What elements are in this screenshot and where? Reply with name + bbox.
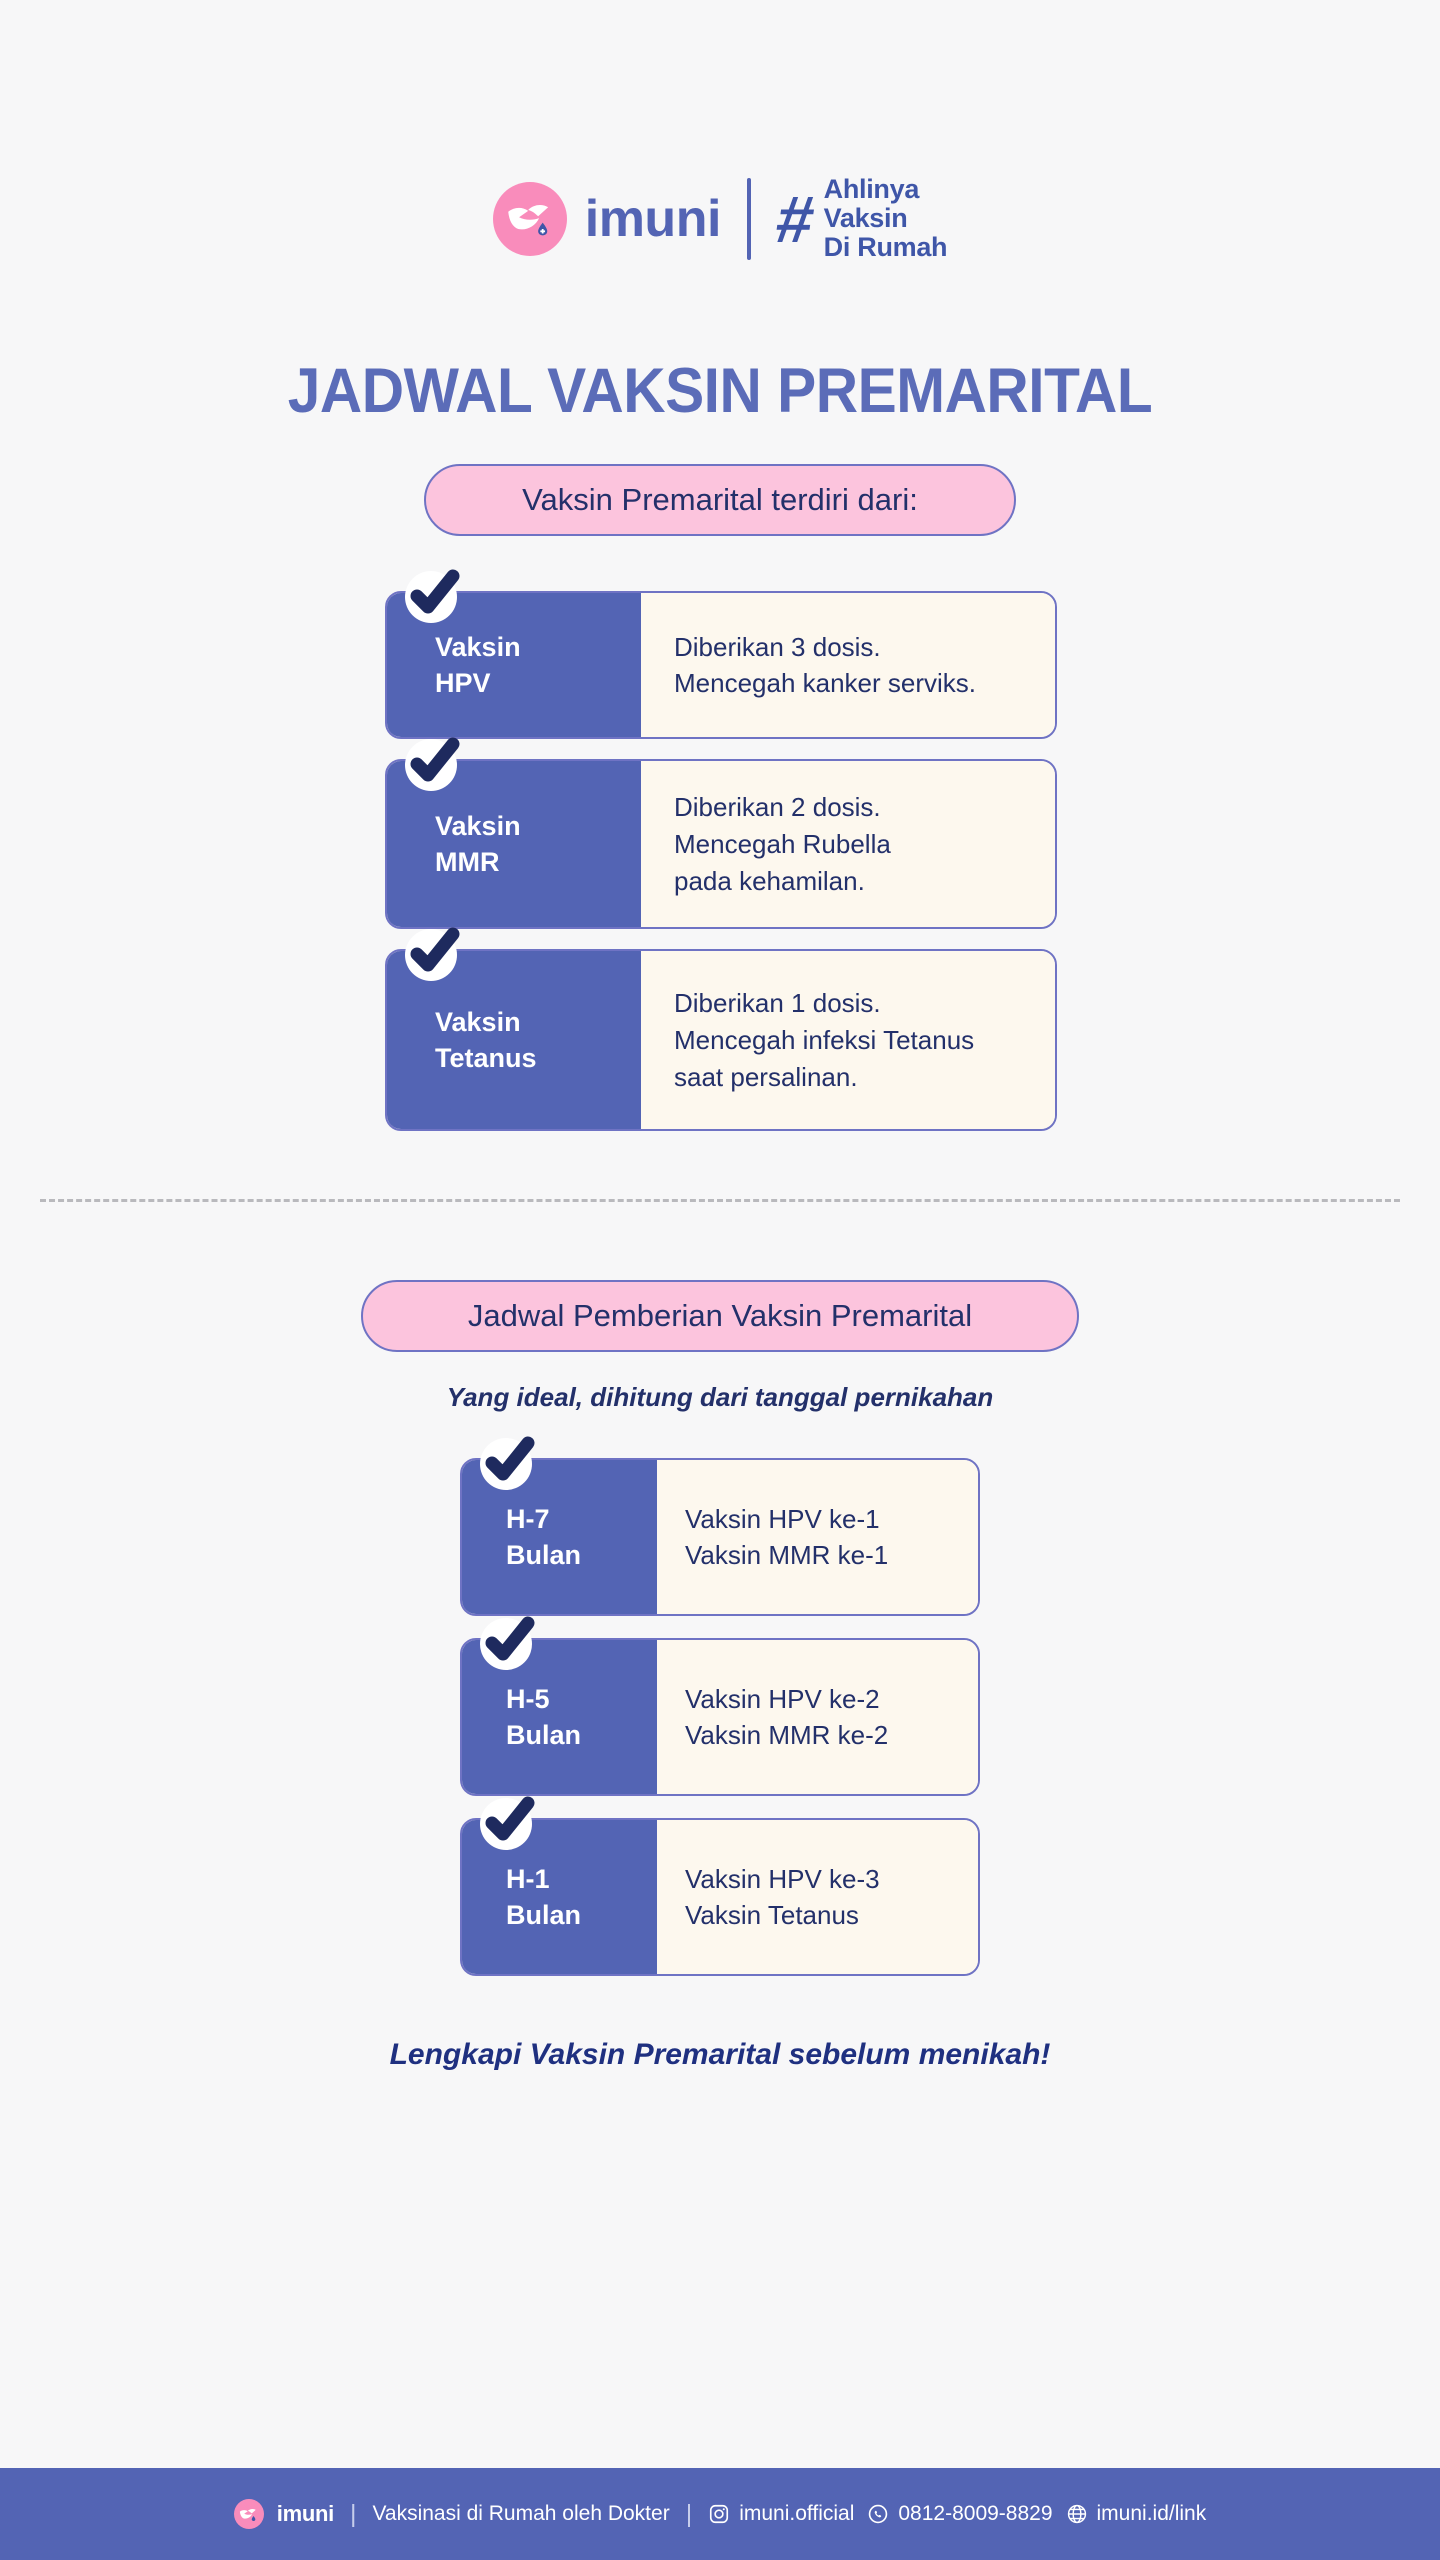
schedule-card-vaccine-line: Vaksin HPV ke-3	[685, 1861, 958, 1898]
closing-statement: Lengkapi Vaksin Premarital sebelum menik…	[0, 2038, 1440, 2072]
vaccine-card-desc-line: Mencegah kanker serviks.	[674, 665, 1031, 702]
vaccine-card-desc-line: saat persalinan.	[674, 1059, 1031, 1096]
vaccine-card[interactable]: Vaksin MMR Diberikan 2 dosis. Mencegah R…	[385, 759, 1057, 929]
vaccine-card-label-line: Tetanus	[435, 1040, 641, 1076]
bird-droplet-icon	[234, 2499, 264, 2529]
vaccine-card-label: Vaksin MMR	[387, 761, 641, 927]
footer-instagram[interactable]: imuni.official	[708, 2502, 854, 2526]
schedule-card-vaccines: Vaksin HPV ke-1 Vaksin MMR ke-1	[657, 1460, 978, 1614]
schedule-card[interactable]: H-7 Bulan Vaksin HPV ke-1 Vaksin MMR ke-…	[460, 1458, 980, 1616]
whatsapp-icon	[867, 2503, 889, 2525]
vaccine-card-label: Vaksin HPV	[387, 593, 641, 737]
schedule-card-time-line: Bulan	[506, 1537, 657, 1573]
footer-instagram-handle: imuni.official	[739, 2502, 854, 2526]
vaccine-card-desc-line: pada kehamilan.	[674, 863, 1031, 900]
brand-header: imuni # Ahlinya Vaksin Di Rumah	[0, 0, 1440, 262]
schedule-card-time-line: Bulan	[506, 1897, 657, 1933]
tagline-line-3: Di Rumah	[824, 233, 948, 262]
hashtag-icon: #	[772, 186, 816, 252]
schedule-card[interactable]: H-1 Bulan Vaksin HPV ke-3 Vaksin Tetanus	[460, 1818, 980, 1976]
footer-wordmark: imuni	[277, 2501, 334, 2527]
footer-whatsapp[interactable]: 0812-8009-8829	[867, 2502, 1052, 2526]
vaccine-card-desc-line: Diberikan 1 dosis.	[674, 985, 1031, 1022]
vaccine-card-desc-line: Diberikan 2 dosis.	[674, 789, 1031, 826]
vaccine-card-desc-line: Diberikan 3 dosis.	[674, 629, 1031, 666]
schedule-card-vaccines: Vaksin HPV ke-3 Vaksin Tetanus	[657, 1820, 978, 1974]
vaccine-card-label: Vaksin Tetanus	[387, 951, 641, 1129]
brand-wordmark: imuni	[585, 193, 721, 245]
section1-pill-heading: Vaksin Premarital terdiri dari:	[424, 464, 1016, 536]
footer-website-url: imuni.id/link	[1097, 2502, 1207, 2526]
schedule-card-time: H-7 Bulan	[462, 1460, 657, 1614]
schedule-card-time-line: Bulan	[506, 1717, 657, 1753]
section2-subtitle: Yang ideal, dihitung dari tanggal pernik…	[0, 1382, 1440, 1413]
schedule-card-vaccine-line: Vaksin MMR ke-1	[685, 1537, 958, 1574]
vaccine-card-description: Diberikan 2 dosis. Mencegah Rubella pada…	[641, 761, 1055, 927]
page-title: JADWAL VAKSIN PREMARITAL	[50, 355, 1389, 427]
vaccine-card-label-line: Vaksin	[435, 1004, 641, 1040]
schedule-card-time-line: H-1	[506, 1861, 657, 1897]
section-divider	[40, 1199, 1400, 1202]
brand-divider	[747, 178, 751, 260]
footer-website[interactable]: imuni.id/link	[1066, 2502, 1207, 2526]
schedule-card-vaccine-line: Vaksin HPV ke-1	[685, 1501, 958, 1538]
footer-bar: imuni | Vaksinasi di Rumah oleh Dokter |…	[0, 2468, 1440, 2560]
brand-logo: imuni	[493, 182, 721, 256]
schedule-card[interactable]: H-5 Bulan Vaksin HPV ke-2 Vaksin MMR ke-…	[460, 1638, 980, 1796]
vaccine-card[interactable]: Vaksin HPV Diberikan 3 dosis. Mencegah k…	[385, 591, 1057, 739]
schedule-card-time-line: H-7	[506, 1501, 657, 1537]
schedule-card-vaccine-line: Vaksin MMR ke-2	[685, 1717, 958, 1754]
vaccine-card-label-line: MMR	[435, 844, 641, 880]
globe-icon	[1066, 2503, 1088, 2525]
bird-droplet-icon	[493, 182, 567, 256]
vaccine-card-desc-line: Mencegah infeksi Tetanus	[674, 1022, 1031, 1059]
footer-separator: |	[686, 2500, 693, 2529]
tagline-line-2: Vaksin	[824, 204, 948, 233]
schedule-card-time: H-5 Bulan	[462, 1640, 657, 1794]
schedule-card-time-line: H-5	[506, 1681, 657, 1717]
schedule-card-vaccines: Vaksin HPV ke-2 Vaksin MMR ke-2	[657, 1640, 978, 1794]
vaccine-card-description: Diberikan 1 dosis. Mencegah infeksi Teta…	[641, 951, 1055, 1129]
tagline-line-1: Ahlinya	[824, 175, 948, 204]
brand-tagline: # Ahlinya Vaksin Di Rumah	[777, 175, 947, 262]
vaccine-card[interactable]: Vaksin Tetanus Diberikan 1 dosis. Menceg…	[385, 949, 1057, 1131]
vaccine-card-label-line: Vaksin	[435, 808, 641, 844]
schedule-card-vaccine-line: Vaksin HPV ke-2	[685, 1681, 958, 1718]
section2-pill-heading: Jadwal Pemberian Vaksin Premarital	[361, 1280, 1079, 1352]
vaccine-card-list: Vaksin HPV Diberikan 3 dosis. Mencegah k…	[0, 591, 1440, 1131]
schedule-card-list: H-7 Bulan Vaksin HPV ke-1 Vaksin MMR ke-…	[0, 1458, 1440, 1976]
footer-whatsapp-number: 0812-8009-8829	[898, 2502, 1052, 2526]
footer-separator: |	[350, 2500, 357, 2529]
vaccine-card-label-line: Vaksin	[435, 629, 641, 665]
schedule-card-time: H-1 Bulan	[462, 1820, 657, 1974]
vaccine-card-label-line: HPV	[435, 665, 641, 701]
vaccine-card-description: Diberikan 3 dosis. Mencegah kanker servi…	[641, 593, 1055, 737]
instagram-icon	[708, 2503, 730, 2525]
schedule-card-vaccine-line: Vaksin Tetanus	[685, 1897, 958, 1934]
vaccine-card-desc-line: Mencegah Rubella	[674, 826, 1031, 863]
footer-service-text: Vaksinasi di Rumah oleh Dokter	[372, 2502, 669, 2526]
